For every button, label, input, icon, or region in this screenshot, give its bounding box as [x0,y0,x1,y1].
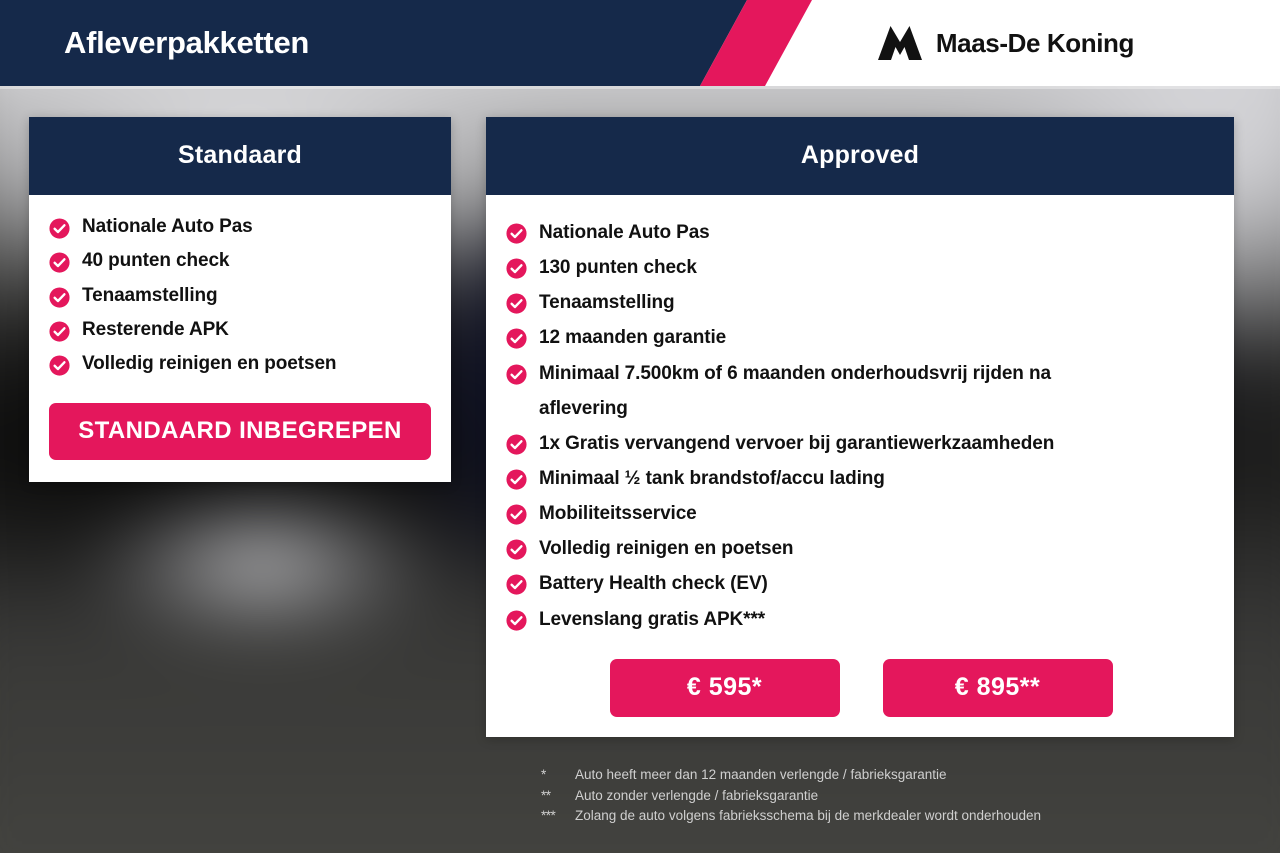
footnote-text: Auto heeft meer dan 12 maanden verlengde… [575,765,1221,786]
feature-label: Volledig reinigen en poetsen [539,531,793,566]
list-item: Levenslang gratis APK*** [506,602,1216,637]
feature-label: Mobiliteitsservice [539,496,697,531]
feature-label: 1x Gratis vervangend vervoer bij garanti… [539,426,1054,461]
feature-label: Battery Health check (EV) [539,566,768,601]
check-circle-icon [506,574,527,595]
check-circle-icon [506,434,527,455]
feature-label: Minimaal ½ tank brandstof/accu lading [539,461,885,496]
brand-name: Maas-De Koning [936,28,1134,59]
page-root: Afleverpakketten Maas-De Koning Standaar… [0,0,1280,853]
list-item: Volledig reinigen en poetsen [506,531,1216,566]
feature-label: Tenaamstelling [82,284,218,308]
check-circle-icon [506,364,527,385]
check-circle-icon [49,252,70,273]
feature-label: Nationale Auto Pas [82,215,253,239]
approved-feature-list: Nationale Auto Pas 130 punten check Tena… [506,215,1216,637]
check-circle-icon [506,469,527,490]
feature-label: Resterende APK [82,318,229,342]
check-circle-icon [506,223,527,244]
feature-label: Volledig reinigen en poetsen [82,352,336,376]
check-circle-icon [506,258,527,279]
footnote-marker: *** [541,806,567,827]
list-item: 130 punten check [506,250,1216,285]
feature-label: Minimaal 7.500km of 6 maanden onderhouds… [539,356,1129,426]
card-approved: Approved Nationale Auto Pas 130 punten c… [486,117,1234,737]
page-title: Afleverpakketten [64,0,309,86]
check-circle-icon [49,218,70,239]
check-circle-icon [49,321,70,342]
list-item: Nationale Auto Pas [506,215,1216,250]
standaard-feature-list: Nationale Auto Pas 40 punten check Tenaa… [49,215,431,377]
price-button-595[interactable]: € 595* [610,659,840,717]
check-circle-icon [506,293,527,314]
footnote-marker: ** [541,786,567,807]
banner-underline [0,86,1280,89]
check-circle-icon [506,539,527,560]
list-item: Minimaal ½ tank brandstof/accu lading [506,461,1216,496]
check-circle-icon [49,355,70,376]
list-item: Nationale Auto Pas [49,215,431,239]
footnote-2: ** Auto zonder verlengde / fabrieksgaran… [541,786,1221,807]
feature-label: 12 maanden garantie [539,320,726,355]
feature-label: Tenaamstelling [539,285,675,320]
list-item: Mobiliteitsservice [506,496,1216,531]
footnote-marker: * [541,765,567,786]
check-circle-icon [506,504,527,525]
feature-label: Nationale Auto Pas [539,215,710,250]
check-circle-icon [506,328,527,349]
card-approved-body: Nationale Auto Pas 130 punten check Tena… [486,195,1234,737]
footnotes: * Auto heeft meer dan 12 maanden verleng… [541,765,1221,827]
footnote-text: Auto zonder verlengde / fabrieksgarantie [575,786,1221,807]
price-button-row: € 595* € 895** [506,659,1216,717]
feature-label: Levenslang gratis APK*** [539,602,765,637]
list-item: Volledig reinigen en poetsen [49,352,431,376]
check-circle-icon [506,610,527,631]
footnote-3: *** Zolang de auto volgens fabrieksschem… [541,806,1221,827]
check-circle-icon [49,287,70,308]
list-item: Minimaal 7.500km of 6 maanden onderhouds… [506,356,1216,426]
feature-label: 40 punten check [82,249,229,273]
list-item: 40 punten check [49,249,431,273]
card-standaard-title: Standaard [29,117,451,195]
brand-logo: Maas-De Koning [878,0,1134,86]
standaard-inbegrepen-button[interactable]: STANDAARD INBEGREPEN [49,403,431,460]
list-item: Tenaamstelling [506,285,1216,320]
list-item: 1x Gratis vervangend vervoer bij garanti… [506,426,1216,461]
card-standaard: Standaard Nationale Auto Pas 40 punten c… [29,117,451,482]
list-item: Tenaamstelling [49,284,431,308]
feature-label: 130 punten check [539,250,697,285]
footnote-text: Zolang de auto volgens fabrieksschema bi… [575,806,1221,827]
maas-m-logo-icon [878,26,922,60]
list-item: Battery Health check (EV) [506,566,1216,601]
background-highlight-center [80,485,444,641]
list-item: Resterende APK [49,318,431,342]
card-approved-title: Approved [486,117,1234,195]
card-standaard-body: Nationale Auto Pas 40 punten check Tenaa… [29,195,451,482]
top-banner: Afleverpakketten Maas-De Koning [0,0,1280,86]
footnote-1: * Auto heeft meer dan 12 maanden verleng… [541,765,1221,786]
price-button-895[interactable]: € 895** [883,659,1113,717]
list-item: 12 maanden garantie [506,320,1216,355]
